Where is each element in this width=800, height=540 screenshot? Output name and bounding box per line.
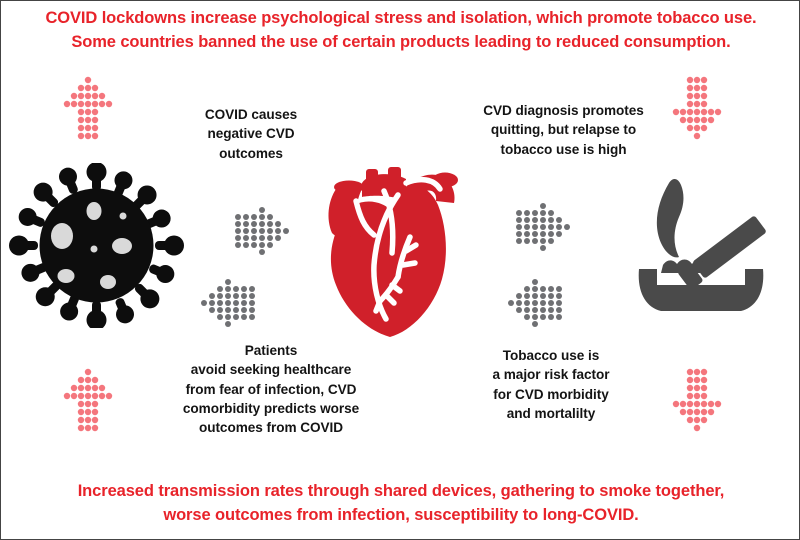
callout-line: outcomes from COVID <box>146 418 396 437</box>
callout-tobacco-use-major-risk-factor: Tobacco use is a major risk factor for C… <box>451 346 651 423</box>
bottom-banner-line-2: worse outcomes from infection, susceptib… <box>1 504 800 528</box>
callout-line: tobacco use is high <box>456 140 671 159</box>
callout-line: avoid seeking healthcare <box>146 360 396 379</box>
callout-covid-causes-negative-cvd-outcomes: COVID causes negative CVD outcomes <box>151 105 351 163</box>
callout-line: Patients <box>146 341 396 360</box>
callout-patients-avoid-seeking-healthcare: Patients avoid seeking healthcare from f… <box>146 341 396 437</box>
bottom-banner-line-1: Increased transmission rates through sha… <box>1 480 800 504</box>
arrow-left-icon <box>506 273 572 333</box>
coronavirus-icon <box>9 163 184 328</box>
top-banner-line-1: COVID lockdowns increase psychological s… <box>1 7 800 31</box>
callout-line: negative CVD <box>151 124 351 143</box>
callout-line: outcomes <box>151 144 351 163</box>
top-banner: COVID lockdowns increase psychological s… <box>1 7 800 55</box>
callout-line: quitting, but relapse to <box>456 120 671 139</box>
arrow-right-icon <box>506 197 572 257</box>
callout-line: from fear of infection, CVD <box>146 380 396 399</box>
callout-cvd-diagnosis-promotes-quitting: CVD diagnosis promotes quitting, but rel… <box>456 101 671 159</box>
callout-line: a major risk factor <box>451 365 651 384</box>
arrow-up-icon <box>58 367 118 433</box>
callout-line: Tobacco use is <box>451 346 651 365</box>
callout-line: comorbidity predicts worse <box>146 399 396 418</box>
cigarette-ashtray-icon <box>629 173 787 318</box>
callout-line: CVD diagnosis promotes <box>456 101 671 120</box>
arrow-left-icon <box>199 273 265 333</box>
callout-line: for CVD morbidity <box>451 385 651 404</box>
arrow-up-icon <box>58 75 118 141</box>
arrow-down-icon <box>667 367 727 433</box>
callout-line: and mortalilty <box>451 404 651 423</box>
anatomical-heart-icon <box>306 161 471 341</box>
arrow-down-icon <box>667 75 727 141</box>
infographic-canvas: COVID lockdowns increase psychological s… <box>0 0 800 540</box>
top-banner-line-2: Some countries banned the use of certain… <box>1 31 800 55</box>
callout-line: COVID causes <box>151 105 351 124</box>
bottom-banner: Increased transmission rates through sha… <box>1 480 800 528</box>
arrow-right-icon <box>225 201 291 261</box>
